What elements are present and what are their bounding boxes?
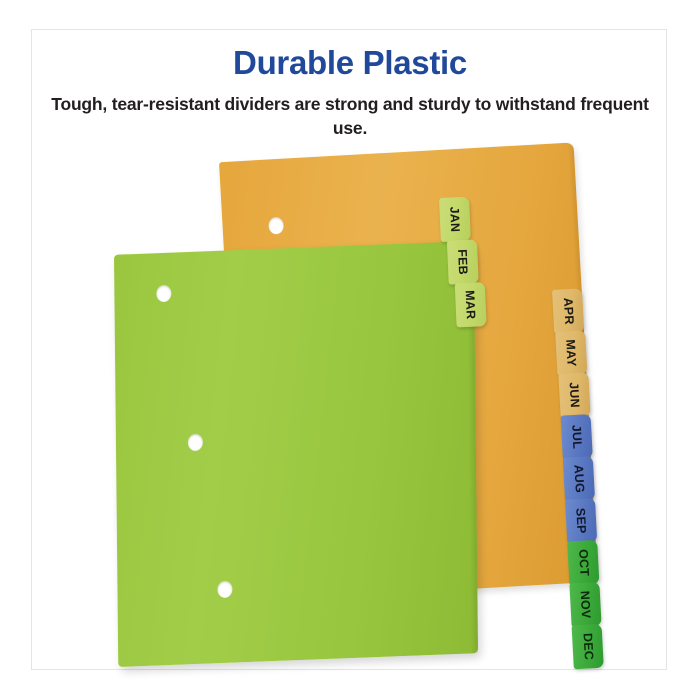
tab-nov[interactable]: NOV — [569, 582, 601, 628]
tab-label: AUG — [571, 464, 586, 493]
hole-punch — [188, 434, 203, 452]
tab-label: SEP — [573, 508, 588, 534]
tab-label: NOV — [578, 590, 593, 618]
tab-label: MAY — [564, 339, 579, 367]
tab-may[interactable]: MAY — [555, 330, 587, 376]
page-subtitle: Tough, tear-resistant dividers are stron… — [50, 93, 650, 140]
tab-label: DEC — [580, 633, 595, 661]
tab-sep[interactable]: SEP — [565, 498, 597, 544]
tab-dec[interactable]: DEC — [572, 624, 604, 670]
tab-oct[interactable]: OCT — [567, 540, 599, 586]
tab-mar[interactable]: MAR — [455, 282, 487, 327]
tab-jul[interactable]: JUL — [561, 414, 593, 460]
product-photo: APR MAY JUN JUL AUG SEP OCT NOV — [31, 140, 667, 665]
tab-aug[interactable]: AUG — [563, 456, 595, 502]
tab-label: OCT — [576, 549, 591, 577]
tab-label: JUN — [567, 382, 582, 408]
page-title: Durable Plastic — [50, 45, 650, 81]
hole-punch — [268, 217, 284, 235]
product-marketing-image: Durable Plastic Tough, tear-resistant di… — [0, 0, 700, 700]
tab-label: APR — [560, 297, 575, 325]
hole-punch — [217, 581, 232, 599]
tab-feb[interactable]: FEB — [447, 239, 479, 284]
tab-label: JAN — [447, 206, 462, 232]
green-plastic-divider — [114, 241, 478, 667]
text-block: Durable Plastic Tough, tear-resistant di… — [50, 45, 650, 141]
hole-punch — [156, 285, 171, 303]
tab-label: FEB — [455, 249, 470, 275]
tab-jun[interactable]: JUN — [558, 372, 590, 418]
tab-apr[interactable]: APR — [552, 288, 584, 334]
tab-label: JUL — [569, 424, 584, 449]
tab-label: MAR — [463, 290, 478, 320]
tab-jan[interactable]: JAN — [439, 197, 471, 242]
